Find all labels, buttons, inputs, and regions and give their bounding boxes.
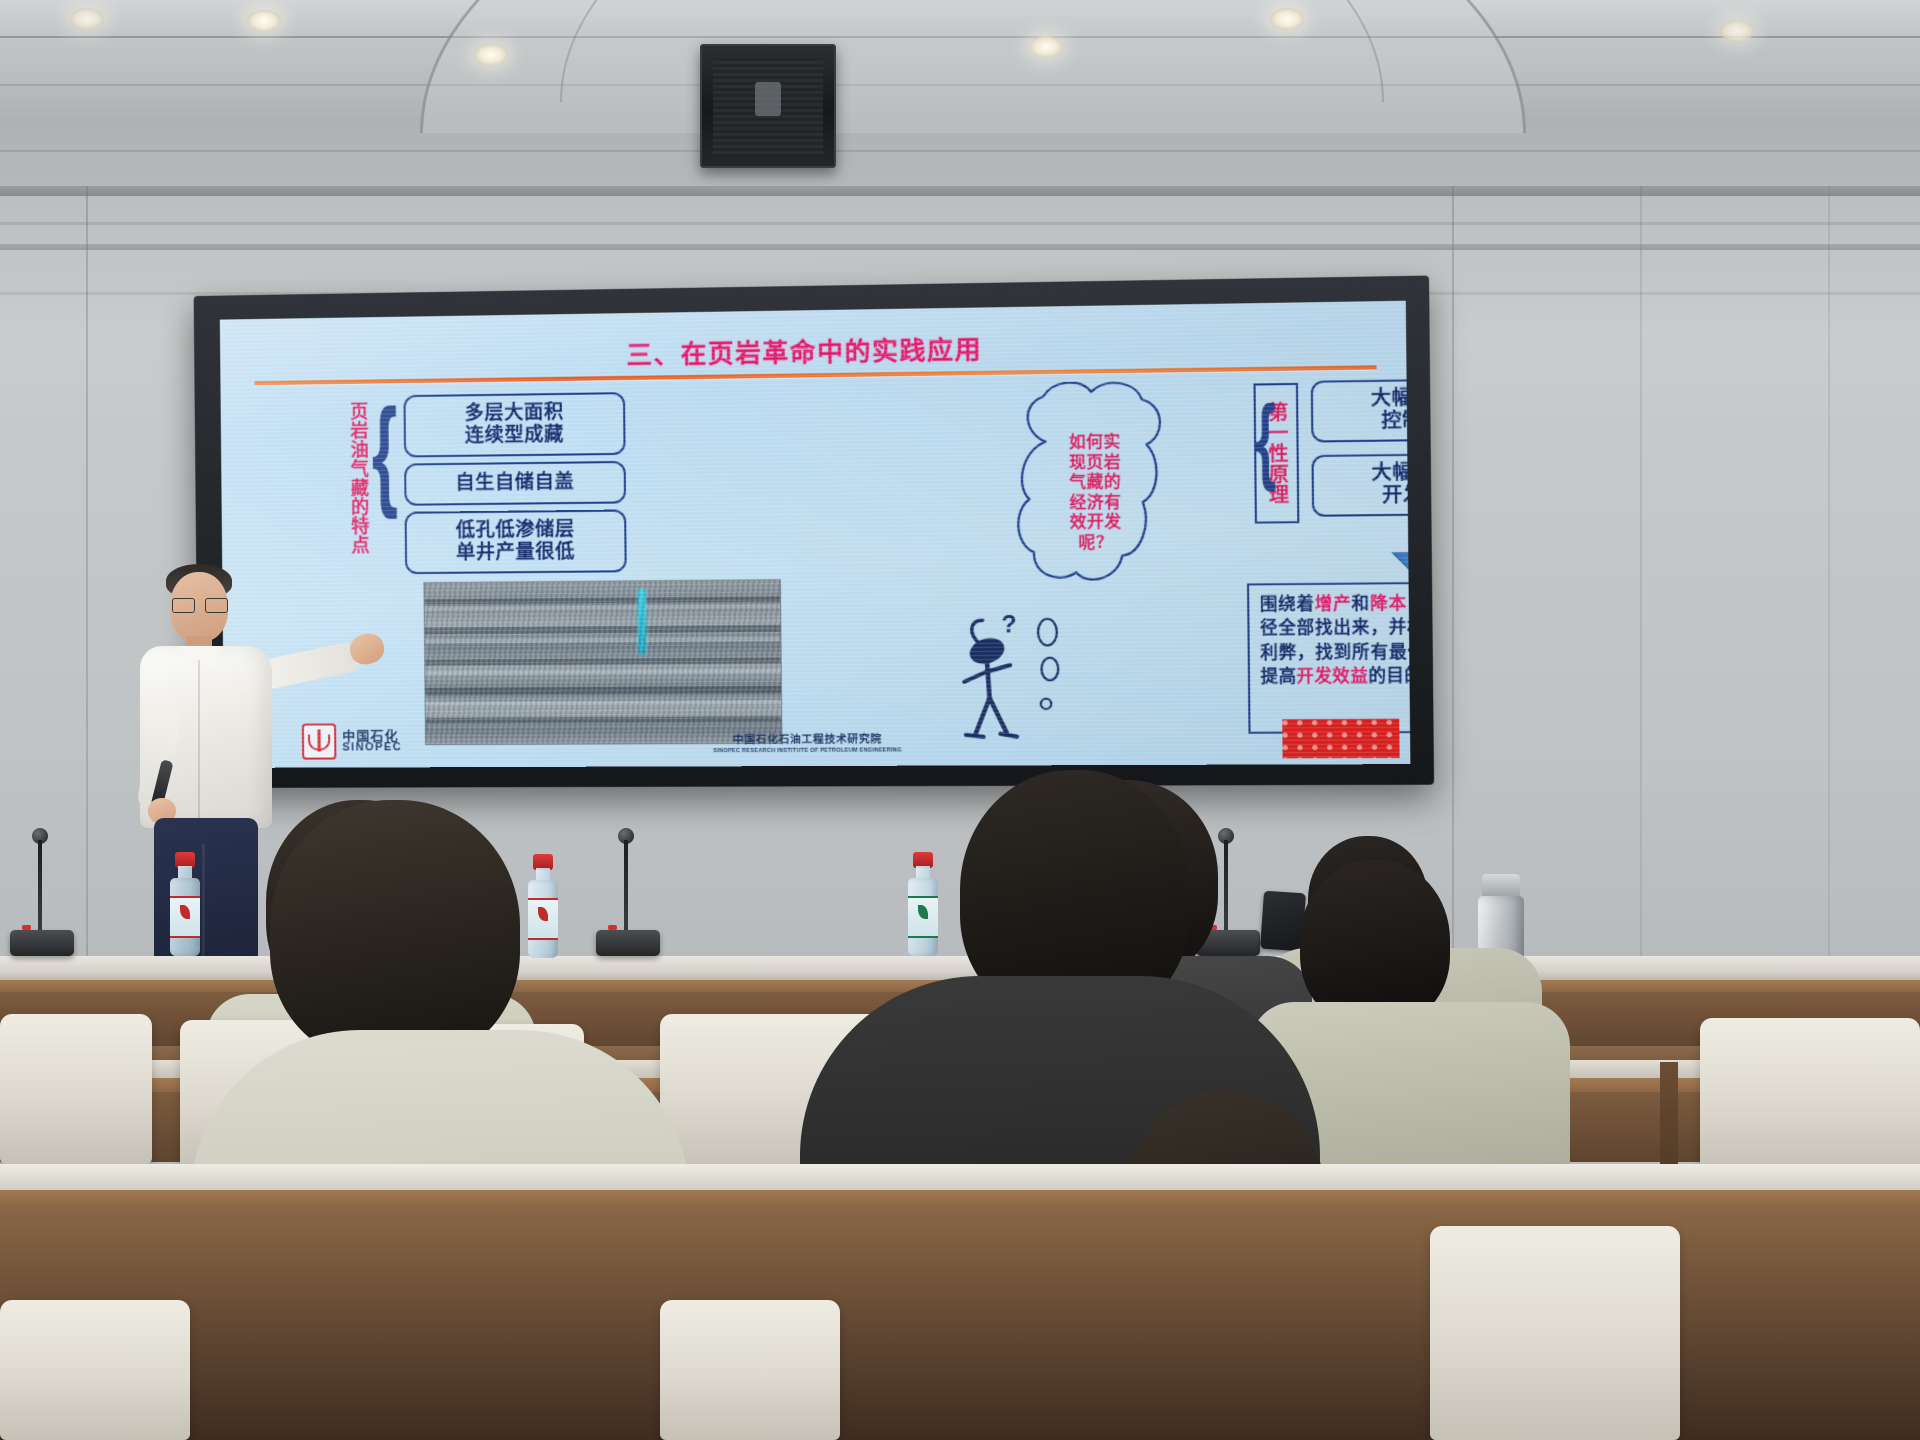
water-bottle[interactable]: [528, 854, 558, 958]
svg-text:?: ?: [1001, 611, 1017, 639]
ceiling-arc-inner: [560, 0, 1384, 102]
down-arrow-icon: [1391, 522, 1410, 580]
right-box-2-line-2: 开发成本: [1372, 484, 1411, 508]
presenter-shirt-placket: [198, 660, 200, 818]
bubble-line-5: 效开发: [1038, 512, 1154, 533]
left-box-1-line-2: 连续型成藏: [465, 424, 564, 448]
conclusion-seg-1: 围绕着: [1260, 595, 1315, 614]
foreground-chair[interactable]: [0, 1300, 190, 1440]
footer-institute-cn: 中国石化石油工程技术研究院: [713, 731, 902, 747]
bottle-label: [170, 896, 200, 938]
left-group-vertical-label: 页岩油气藏的特点: [341, 402, 369, 555]
microphone-stem: [624, 840, 628, 932]
bubble-line-1: 如何实: [1037, 432, 1153, 453]
right-box-2-line-1: 大幅度降低: [1371, 461, 1410, 485]
left-box-3[interactable]: 低孔低渗储层 单井产量很低: [405, 510, 627, 575]
audience-chair[interactable]: [1700, 1018, 1920, 1170]
microphone-base: [10, 930, 74, 956]
conclusion-seg-4: 的目的: [1368, 667, 1410, 686]
presentation-slide: 三、在页岩革命中的实践应用 页岩油气藏的特点 { 多层大面积 连续型成藏 自生自…: [220, 301, 1411, 768]
microphone-base: [596, 930, 660, 956]
ceiling-downlight: [1270, 8, 1304, 30]
right-box-1-line-1: 大幅度提高: [1371, 386, 1411, 411]
desk-microphone[interactable]: [10, 806, 74, 956]
ceiling-downlight: [474, 44, 508, 66]
thought-bubble: 如何实 现页岩 气藏的 经济有 效开发 呢？: [1007, 380, 1181, 603]
ceiling-downlight: [247, 10, 281, 32]
bubble-line-6: 呢？: [1038, 532, 1154, 553]
ceiling: [0, 0, 1920, 200]
thought-bubble-text: 如何实 现页岩 气藏的 经济有 效开发 呢？: [1037, 432, 1154, 553]
lecture-hall-photo: 三、在页岩革命中的实践应用 页岩油气藏的特点 { 多层大面积 连续型成藏 自生自…: [0, 0, 1920, 1440]
foreground-chair[interactable]: [660, 1300, 840, 1440]
left-brace-icon: {: [371, 403, 398, 502]
right-box-1-line-2: 控制储量: [1371, 409, 1411, 433]
left-box-3-line-1: 低孔低渗储层: [456, 519, 575, 543]
audience-chair[interactable]: [0, 1014, 152, 1164]
ceiling-downlight: [70, 8, 104, 30]
desk-microphone[interactable]: [596, 798, 660, 956]
footer-red-badge: [1282, 719, 1399, 759]
ceiling-downlight: [1029, 36, 1063, 58]
left-box-2-line-1: 自生自储自盖: [455, 471, 574, 495]
bubble-line-3: 气藏的: [1038, 472, 1154, 493]
water-bottle[interactable]: [170, 852, 200, 956]
right-box-2[interactable]: 大幅度降低 开发成本: [1311, 452, 1410, 517]
ceiling-downlight: [1720, 20, 1754, 42]
left-box-2[interactable]: 自生自储自盖: [404, 461, 626, 506]
conclusion-box[interactable]: 围绕着增产和降本，将所有可能的路径全部找出来，并权衡相互的影响和利弊，找到所有最…: [1247, 581, 1410, 734]
slide-footer: 中国石化 SINOPEC 中国石化石油工程技术研究院 SINOPEC RESEA…: [224, 714, 1411, 767]
left-box-3-line-2: 单井产量很低: [456, 541, 575, 565]
left-box-1-line-1: 多层大面积: [464, 402, 563, 426]
foreground-chair[interactable]: [1430, 1226, 1680, 1440]
footer-institute: 中国石化石油工程技术研究院 SINOPEC RESEARCH INSTITUTE…: [713, 731, 902, 754]
bottle-neck: [178, 866, 192, 878]
scale-marker-rod: [638, 589, 646, 654]
right-box-1[interactable]: 大幅度提高 控制储量: [1311, 378, 1411, 443]
bubble-line-2: 现页岩: [1037, 452, 1153, 473]
right-brace-icon: {: [1255, 402, 1277, 480]
foreground-head: [270, 800, 520, 1062]
ceiling-speaker-box: [700, 44, 836, 168]
left-box-1[interactable]: 多层大面积 连续型成藏: [403, 392, 625, 457]
footer-institute-en: SINOPEC RESEARCH INSTITUTE OF PETROLEUM …: [713, 747, 902, 754]
bubble-line-4: 经济有: [1038, 492, 1154, 513]
bottle-label: [908, 896, 938, 938]
glasses-icon: [172, 598, 226, 611]
conclusion-highlight-1: 增产: [1315, 595, 1352, 614]
microphone-stem: [38, 840, 42, 932]
conclusion-seg-2: 和: [1352, 595, 1371, 614]
foreground-desk-surface: [0, 1164, 1920, 1192]
microphone-led: [22, 925, 31, 930]
bottle-neck: [916, 866, 930, 878]
microphone-led: [608, 925, 617, 930]
speaker-badge: [755, 82, 781, 116]
conclusion-highlight-3: 开发效益: [1296, 667, 1368, 686]
bottle-label: [528, 898, 558, 940]
bottle-neck: [536, 868, 550, 880]
conclusion-highlight-2: 降本: [1370, 594, 1407, 613]
